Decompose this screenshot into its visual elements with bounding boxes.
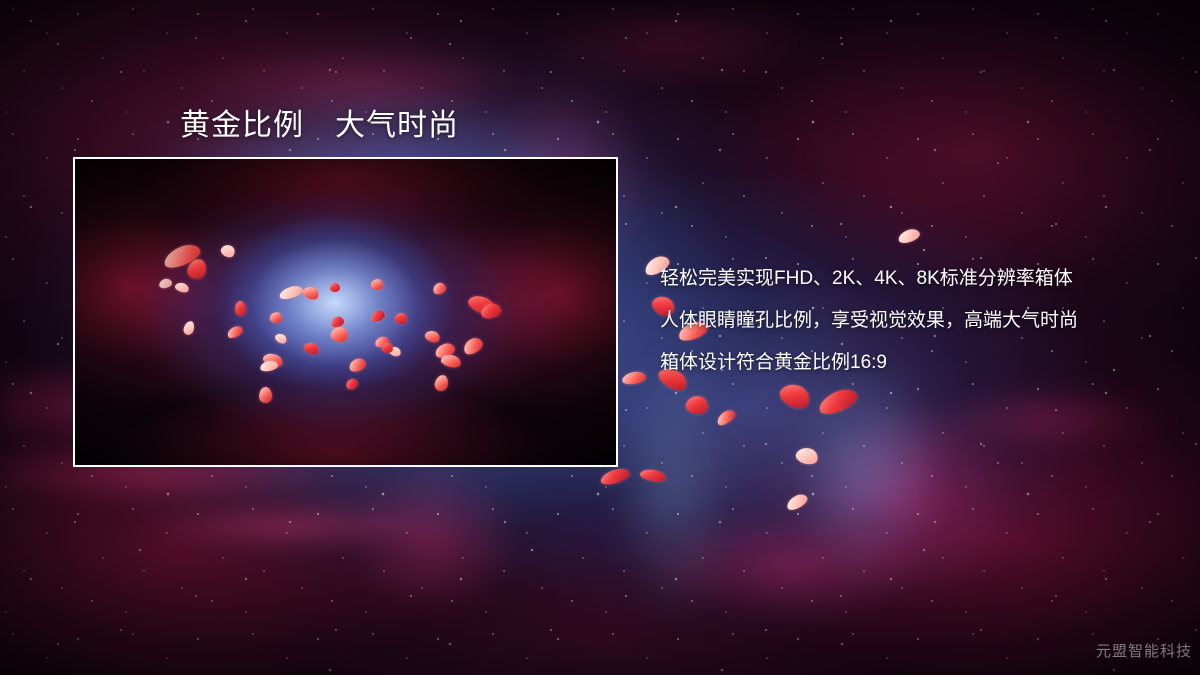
- presentation-slide: 黄金比例 大气时尚 轻松完美实现FHD、2K、4K、8K标准分辨率箱体 人体眼睛…: [0, 0, 1200, 675]
- body-line-1: 轻松完美实现FHD、2K、4K、8K标准分辨率箱体: [660, 258, 1160, 300]
- framed-image-vignette: [75, 159, 616, 465]
- body-text-block: 轻松完美实现FHD、2K、4K、8K标准分辨率箱体 人体眼睛瞳孔比例，享受视觉效…: [660, 258, 1160, 384]
- body-line-2: 人体眼睛瞳孔比例，享受视觉效果，高端大气时尚: [660, 300, 1160, 342]
- watermark: 元盟智能科技: [1096, 640, 1192, 661]
- body-line-3: 箱体设计符合黄金比例16:9: [660, 342, 1160, 384]
- page-title: 黄金比例 大气时尚: [180, 100, 459, 144]
- framed-product-image: [73, 157, 618, 467]
